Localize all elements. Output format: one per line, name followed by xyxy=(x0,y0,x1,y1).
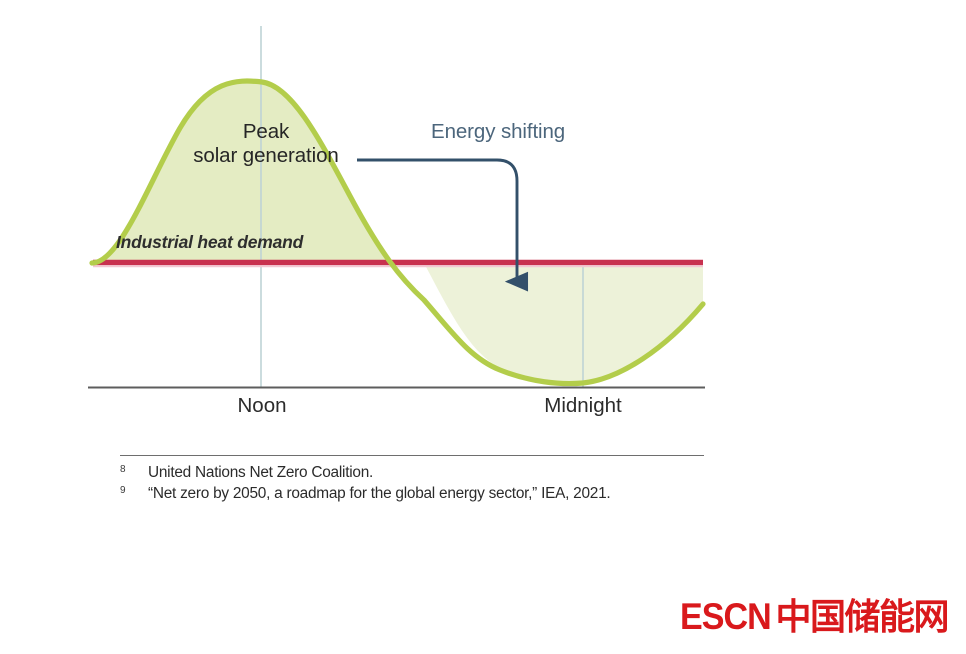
peak-label-line-1: Peak xyxy=(168,120,364,144)
footnote-marker-9: 9 xyxy=(120,484,148,496)
peak-solar-generation-label: Peak solar generation xyxy=(168,120,364,168)
industrial-heat-demand-label: Industrial heat demand xyxy=(116,232,303,253)
footnote-marker-8: 8 xyxy=(120,463,148,475)
watermark-latin-text: ESCN xyxy=(680,596,771,638)
footnote-divider xyxy=(120,455,704,456)
footnote-item: 8 United Nations Net Zero Coalition. xyxy=(120,463,704,483)
footnote-item: 9 “Net zero by 2050, a roadmap for the g… xyxy=(120,484,704,504)
energy-shifting-label: Energy shifting xyxy=(431,120,565,144)
chart-area: Peak solar generation Energy shifting In… xyxy=(0,0,760,440)
area-fill-below-baseline xyxy=(424,263,703,385)
footnote-text-8: United Nations Net Zero Coalition. xyxy=(148,463,373,483)
escn-watermark: ESCN 中国储能网 xyxy=(676,588,948,640)
peak-label-line-2: solar generation xyxy=(168,144,364,168)
x-axis-tick-noon: Noon xyxy=(202,394,322,418)
solar-generation-chart xyxy=(0,0,760,440)
watermark-cjk-text: 中国储能网 xyxy=(775,588,948,640)
footnotes-block: 8 United Nations Net Zero Coalition. 9 “… xyxy=(120,455,704,504)
figure-root: Peak solar generation Energy shifting In… xyxy=(0,0,966,654)
x-axis-tick-midnight: Midnight xyxy=(508,394,658,418)
footnote-text-9: “Net zero by 2050, a roadmap for the glo… xyxy=(148,484,610,504)
